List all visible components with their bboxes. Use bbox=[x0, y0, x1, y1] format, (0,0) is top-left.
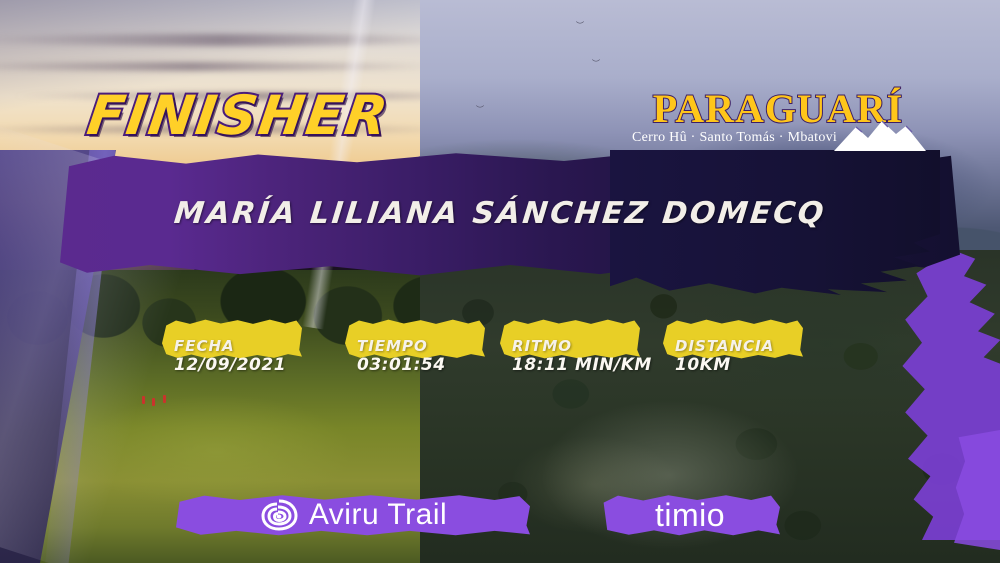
stat-value: 03:01:54 bbox=[357, 355, 446, 375]
spiral-logo-icon bbox=[259, 497, 299, 533]
timio-label: timio bbox=[600, 493, 780, 537]
stat-label: FECHA bbox=[174, 337, 235, 355]
runner-figure bbox=[142, 396, 145, 404]
runner-figure bbox=[163, 395, 166, 403]
bird-icon: ︶ bbox=[592, 60, 600, 68]
bird-icon: ︶ bbox=[476, 106, 484, 114]
stat-distancia: DISTANCIA 10KM bbox=[663, 318, 813, 386]
cloud-band bbox=[0, 34, 474, 46]
aviru-sponsor: Aviru Trail bbox=[176, 493, 530, 537]
athlete-name: MARÍA LILIANA SÁNCHEZ DOMECQ bbox=[0, 196, 1000, 231]
stat-value: 10KM bbox=[675, 355, 731, 375]
runner-figure bbox=[152, 398, 155, 406]
stat-tiempo: TIEMPO 03:01:54 bbox=[345, 318, 495, 386]
stat-ritmo: RITMO 18:11 MIN/KM bbox=[500, 318, 650, 386]
bird-icon: ︶ bbox=[576, 22, 584, 30]
cloud-band bbox=[0, 62, 444, 71]
mountain-icon bbox=[832, 118, 928, 152]
aviru-label: Aviru Trail bbox=[309, 498, 447, 532]
finisher-certificate: ︶ ︶ ︶ MARÍA LILIANA SÁNCHEZ DOMECQ FINIS… bbox=[0, 0, 1000, 563]
event-logo-subtitle: Cerro Hû · Santo Tomás · Mbatovi bbox=[632, 130, 837, 146]
stat-label: TIEMPO bbox=[357, 337, 428, 355]
event-logo: PARAGUARÍ Cerro Hû · Santo Tomás · Mbato… bbox=[628, 88, 928, 154]
stat-fecha: FECHA 12/09/2021 bbox=[162, 318, 312, 386]
finisher-title: FINISHER bbox=[84, 84, 394, 147]
stat-value: 12/09/2021 bbox=[174, 355, 286, 375]
stat-value: 18:11 MIN/KM bbox=[512, 355, 652, 375]
stat-label: RITMO bbox=[512, 337, 572, 355]
stat-label: DISTANCIA bbox=[675, 337, 774, 355]
